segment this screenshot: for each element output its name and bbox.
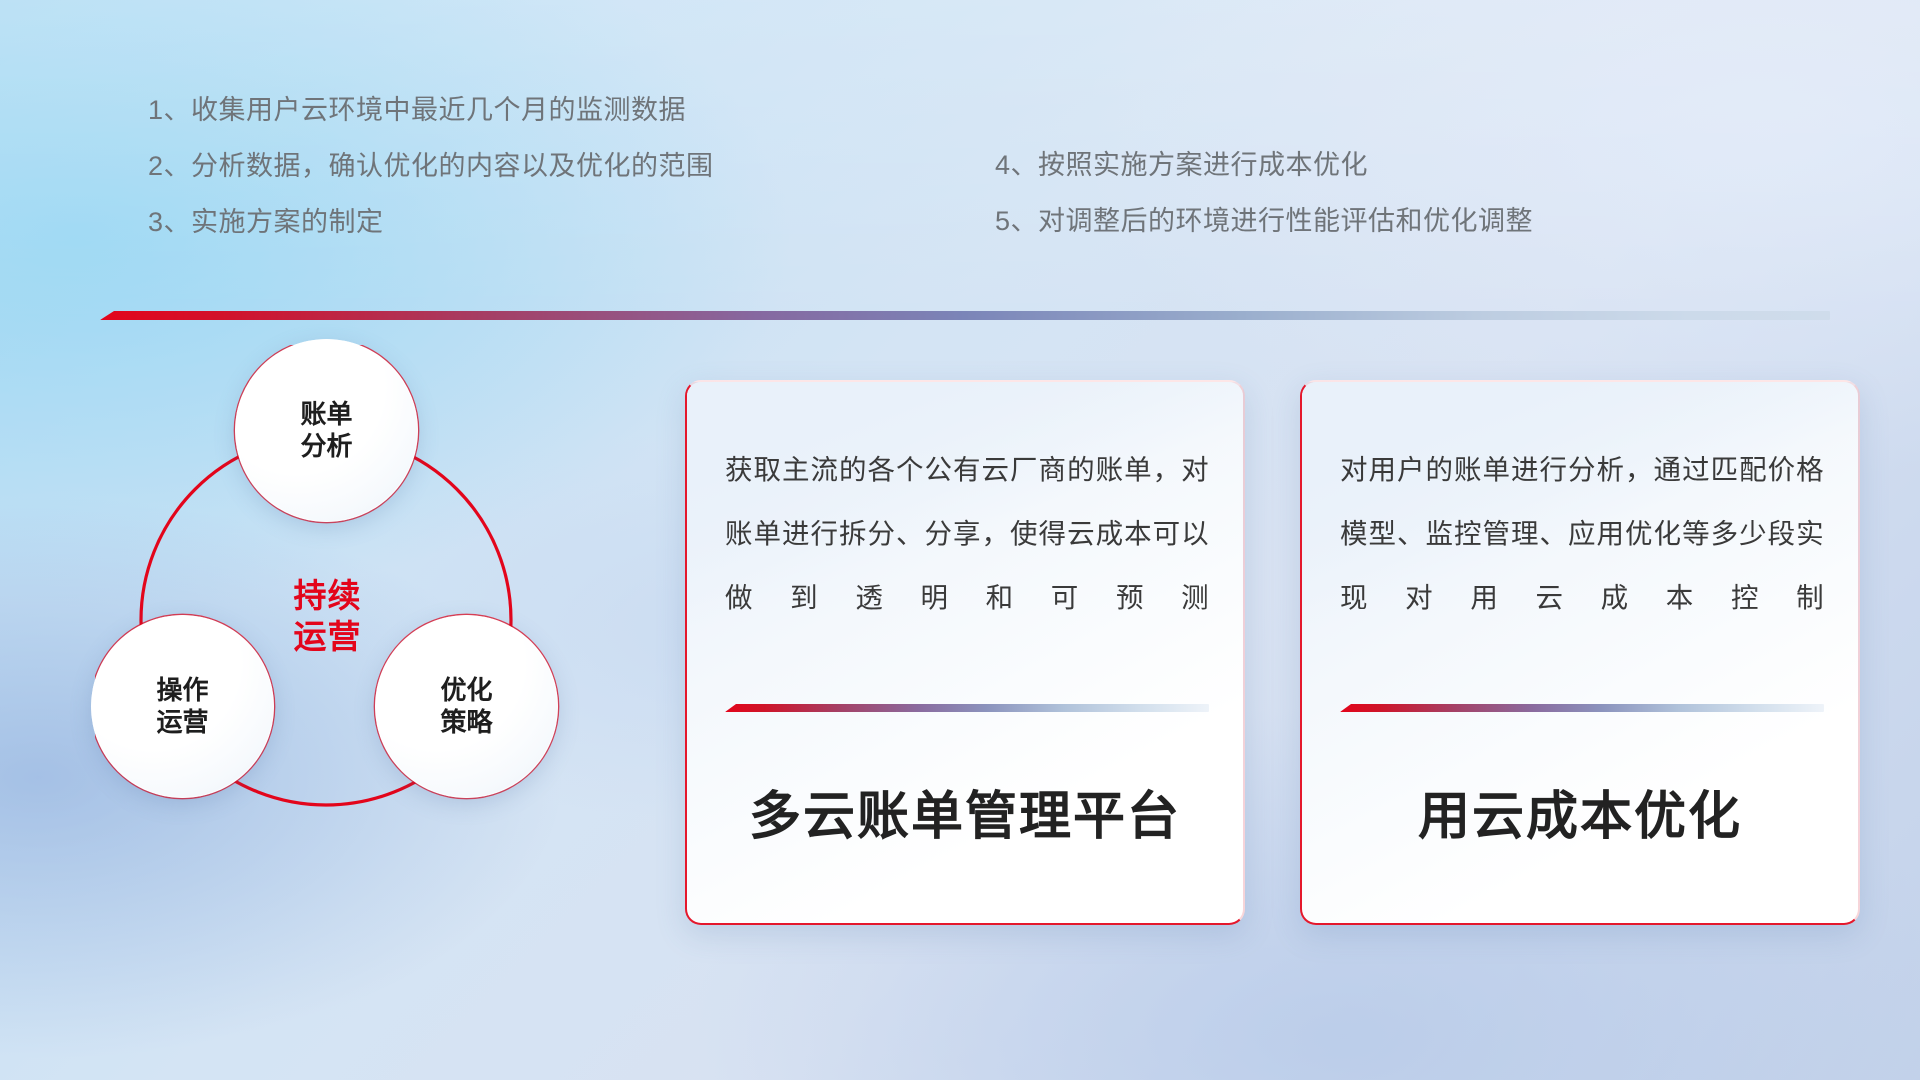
diagram-center-label-line1: 持续 <box>250 575 405 616</box>
step-item-3: 3、实施方案的制定 <box>148 209 714 236</box>
diagram-node-operation-line2: 运营 <box>156 707 208 739</box>
card-cloud-cost-optimization-title: 用云成本优化 <box>1302 774 1858 849</box>
card-multicloud-billing-text: 获取主流的各个公有云厂商的账单，对账单进行拆分、分享，使得云成本可以做到透明和可… <box>725 438 1209 630</box>
diagram-node-bill-analysis-line1: 账单 <box>300 399 352 431</box>
diagram-center-label: 持续 运营 <box>250 575 405 658</box>
section-divider <box>100 311 1830 320</box>
diagram-node-operation[interactable]: 操作 运营 <box>91 615 274 798</box>
diagram-node-bill-analysis[interactable]: 账单 分析 <box>235 339 418 522</box>
diagram-node-bill-analysis-line2: 分析 <box>300 431 352 463</box>
card-cloud-cost-optimization[interactable]: 对用户的账单进行分析，通过匹配价格模型、监控管理、应用优化等多少段实现对用云成本… <box>1300 380 1860 925</box>
steps-list-right: 4、按照实施方案进行成本优化 5、对调整后的环境进行性能评估和优化调整 <box>995 152 1533 264</box>
card-cloud-cost-optimization-body: 对用户的账单进行分析，通过匹配价格模型、监控管理、应用优化等多少段实现对用云成本… <box>1340 438 1824 630</box>
diagram-node-optimization-strategy-line2: 策略 <box>440 707 492 739</box>
card-multicloud-billing-body: 获取主流的各个公有云厂商的账单，对账单进行拆分、分享，使得云成本可以做到透明和可… <box>725 438 1209 630</box>
diagram-center-label-line2: 运营 <box>250 616 405 657</box>
diagram-node-operation-line1: 操作 <box>156 675 208 707</box>
step-item-1: 1、收集用户云环境中最近几个月的监测数据 <box>148 97 714 124</box>
card-multicloud-billing-rule <box>725 704 1209 712</box>
card-cloud-cost-optimization-rule <box>1340 704 1824 712</box>
steps-list-left: 1、收集用户云环境中最近几个月的监测数据 2、分析数据，确认优化的内容以及优化的… <box>148 97 714 265</box>
step-item-2: 2、分析数据，确认优化的内容以及优化的范围 <box>148 153 714 180</box>
continuous-operation-diagram: 账单 分析 操作 运营 优化 策略 持续 运营 <box>95 345 655 945</box>
card-cloud-cost-optimization-text: 对用户的账单进行分析，通过匹配价格模型、监控管理、应用优化等多少段实现对用云成本… <box>1340 438 1824 630</box>
step-item-4: 4、按照实施方案进行成本优化 <box>995 152 1533 179</box>
step-item-5: 5、对调整后的环境进行性能评估和优化调整 <box>995 208 1533 235</box>
card-multicloud-billing[interactable]: 获取主流的各个公有云厂商的账单，对账单进行拆分、分享，使得云成本可以做到透明和可… <box>685 380 1245 925</box>
card-multicloud-billing-title: 多云账单管理平台 <box>687 774 1243 849</box>
diagram-node-optimization-strategy-line1: 优化 <box>440 675 492 707</box>
